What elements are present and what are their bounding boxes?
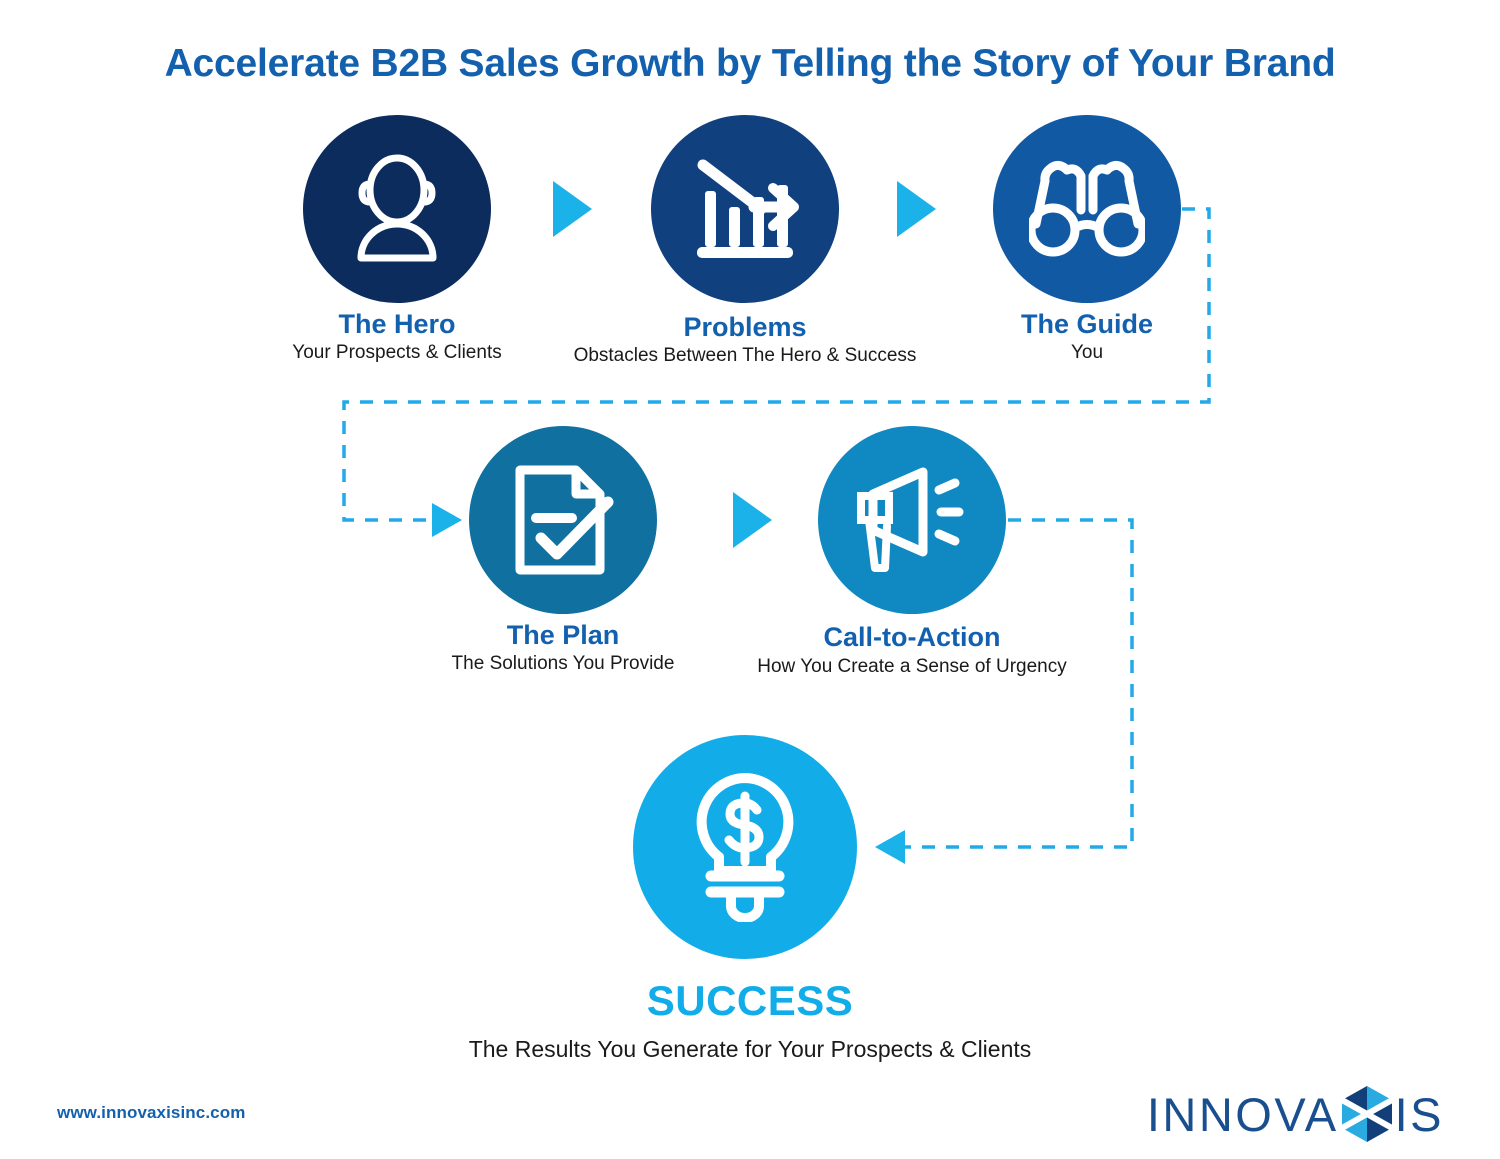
- arrow-problems-to-guide: [897, 181, 936, 237]
- logo-text-left: INNOVA: [1147, 1091, 1339, 1138]
- megaphone-icon: [851, 464, 973, 576]
- success-subtitle: The Results You Generate for Your Prospe…: [0, 1036, 1500, 1063]
- cta-subtitle: How You Create a Sense of Urgency: [602, 656, 1222, 678]
- hero-circle: [303, 115, 491, 303]
- document-checkmark-icon: [508, 464, 618, 576]
- cta-title: Call-to-Action: [682, 622, 1142, 653]
- guide-circle: [993, 115, 1181, 303]
- cta-circle: [818, 426, 1006, 614]
- plan-circle: [469, 426, 657, 614]
- logo-text-right: IS: [1395, 1091, 1444, 1138]
- arrow-hero-to-problems: [553, 181, 592, 237]
- innovaxis-logo[interactable]: INNOVA IS: [1147, 1085, 1444, 1143]
- declining-bar-chart-icon: [691, 157, 799, 261]
- page-title: Accelerate B2B Sales Growth by Telling t…: [0, 42, 1500, 86]
- binoculars-icon: [1029, 158, 1145, 260]
- person-icon: [347, 154, 447, 264]
- hexagon-x-icon: [1340, 1086, 1394, 1142]
- arrow-plan-to-cta: [733, 492, 772, 548]
- infographic-canvas: Accelerate B2B Sales Growth by Telling t…: [0, 0, 1500, 1159]
- guide-title: The Guide: [857, 309, 1317, 340]
- website-url[interactable]: www.innovaxisinc.com: [57, 1103, 245, 1123]
- success-circle: [633, 735, 857, 959]
- success-title: SUCCESS: [0, 977, 1500, 1025]
- problems-circle: [651, 115, 839, 303]
- guide-subtitle: You: [777, 342, 1397, 364]
- lightbulb-dollar-icon: [681, 772, 809, 922]
